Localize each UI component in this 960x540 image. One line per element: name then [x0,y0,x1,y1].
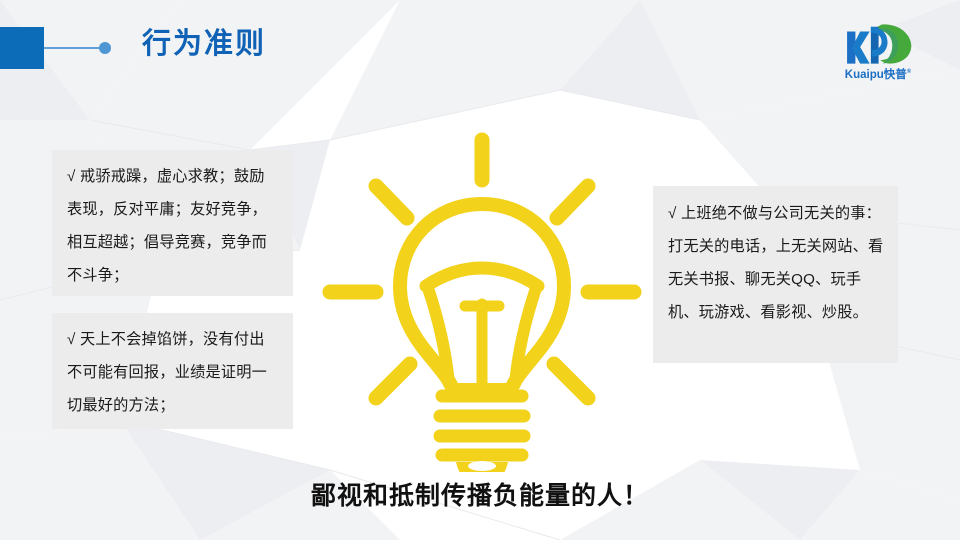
rule-panel-right: √ 上班绝不做与公司无关的事：打无关的电话，上无关网站、看无关书报、聊无关QQ、… [653,186,898,363]
header-connector-line [44,47,104,49]
lightbulb-icon [310,128,654,472]
logo-name-en: Kuaipu [845,69,884,81]
company-logo: Kuaipu快普® [822,22,934,84]
page-title: 行为准则 [142,26,266,62]
slide-caption: 鄙视和抵制传播负能量的人！ [0,478,960,514]
logo-wordmark: Kuaipu快普® [845,66,911,82]
rule-panel-left-bottom: √ 天上不会掉馅饼，没有付出不可能有回报，业绩是证明一切最好的方法； [52,313,293,429]
rule-panel-left-top: √ 戒骄戒躁，虚心求教；鼓励表现，反对平庸；友好竞争，相互超越；倡导竞赛，竞争而… [52,150,293,296]
header-accent-square [0,27,44,69]
logo-registered-mark: ® [907,69,911,75]
slide-root: 行为准则 Kuaipu快普® √ 戒骄戒躁，虚心求教；鼓励表现，反对平庸；友好竞… [0,0,960,540]
kuaipu-logo-icon [842,22,914,66]
header-connector-dot [99,42,111,54]
logo-name-cn: 快普 [884,69,907,81]
